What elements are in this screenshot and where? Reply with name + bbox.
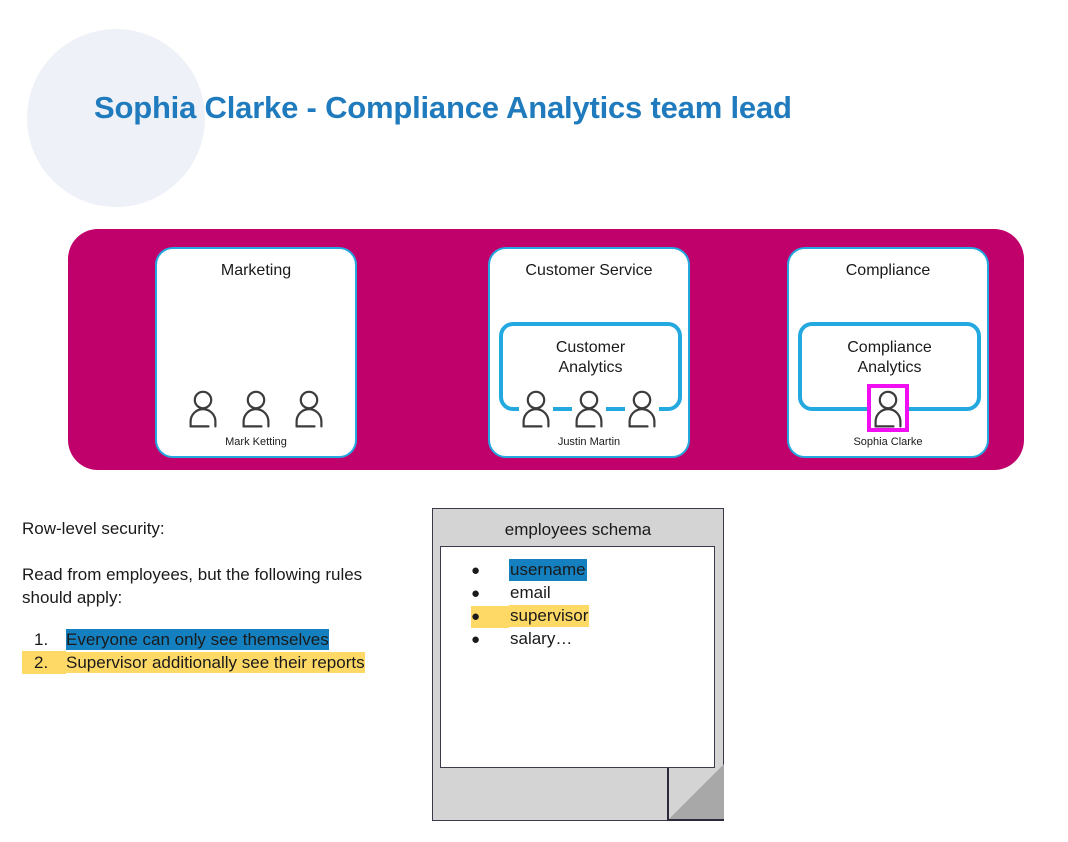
list-item: ● salary… — [441, 628, 714, 651]
person-slot-highlighted[interactable] — [867, 384, 909, 432]
rules-list: 1. Everyone can only see themselves 2. S… — [22, 628, 402, 674]
schema-field-name: username — [509, 559, 587, 581]
subteam-label-line1: Customer — [556, 339, 625, 356]
bullet-icon: ● — [471, 629, 509, 651]
document-fold-line — [667, 763, 725, 821]
person-slot[interactable] — [625, 388, 659, 428]
schema-field-list: ● username ● email ● supervisor ● salary… — [441, 547, 714, 651]
department-card-customer-service[interactable]: Customer Service Customer Analytics — [488, 247, 690, 458]
rule-text-wrap: Everyone can only see themselves — [66, 628, 402, 651]
subteam-label: Compliance Analytics — [802, 338, 977, 378]
notes-body: Read from employees, but the following r… — [22, 563, 382, 609]
notes-heading: Row-level security: — [22, 517, 165, 540]
rule-text: Supervisor additionally see their report… — [66, 652, 365, 673]
list-item: 2. Supervisor additionally see their rep… — [22, 651, 402, 674]
person-icon — [625, 388, 659, 428]
person-slot[interactable] — [292, 388, 326, 428]
person-icon — [871, 388, 905, 428]
rule-text: Everyone can only see themselves — [66, 629, 329, 650]
list-item: ● supervisor — [441, 605, 714, 628]
person-icon — [572, 388, 606, 428]
rule-text-wrap: Supervisor additionally see their report… — [66, 651, 402, 674]
subteam-label-line1: Compliance — [847, 339, 931, 356]
person-icon — [292, 388, 326, 428]
department-title: Marketing — [157, 262, 355, 280]
person-slot[interactable] — [572, 388, 606, 428]
department-card-marketing[interactable]: Marketing Mark Ketting — [155, 247, 357, 458]
person-slot[interactable] — [519, 388, 553, 428]
person-slot[interactable] — [239, 388, 273, 428]
person-icon — [239, 388, 273, 428]
page-title: Sophia Clarke - Compliance Analytics tea… — [94, 90, 792, 126]
people-row — [157, 388, 355, 428]
subteam-label-line2: Analytics — [857, 359, 921, 376]
person-slot[interactable] — [186, 388, 220, 428]
schema-title: employees schema — [432, 520, 724, 540]
people-row — [789, 384, 987, 428]
department-title: Customer Service — [490, 262, 688, 280]
bullet-icon: ● — [471, 583, 509, 605]
schema-field-name: salary… — [509, 628, 573, 650]
person-icon — [186, 388, 220, 428]
schema-field-name: email — [509, 582, 552, 604]
department-person-name: Mark Ketting — [157, 436, 355, 448]
person-icon — [519, 388, 553, 428]
department-card-compliance[interactable]: Compliance Compliance Analytics Sophia C… — [787, 247, 989, 458]
subteam-label-line2: Analytics — [558, 359, 622, 376]
bullet-icon: ● — [471, 606, 509, 628]
schema-field-name: supervisor — [509, 605, 589, 627]
list-item: 1. Everyone can only see themselves — [22, 628, 402, 651]
list-item: ● email — [441, 582, 714, 605]
schema-document: employees schema ● username ● email ● su… — [432, 508, 724, 821]
department-person-name: Sophia Clarke — [789, 436, 987, 448]
rule-number: 2. — [22, 651, 66, 674]
department-title: Compliance — [789, 262, 987, 280]
rule-number: 1. — [22, 628, 66, 651]
people-row — [490, 388, 688, 428]
list-item: ● username — [441, 559, 714, 582]
schema-field-panel: ● username ● email ● supervisor ● salary… — [440, 546, 715, 768]
department-person-name: Justin Martin — [490, 436, 688, 448]
bullet-icon: ● — [471, 560, 509, 582]
subteam-label: Customer Analytics — [503, 338, 678, 378]
